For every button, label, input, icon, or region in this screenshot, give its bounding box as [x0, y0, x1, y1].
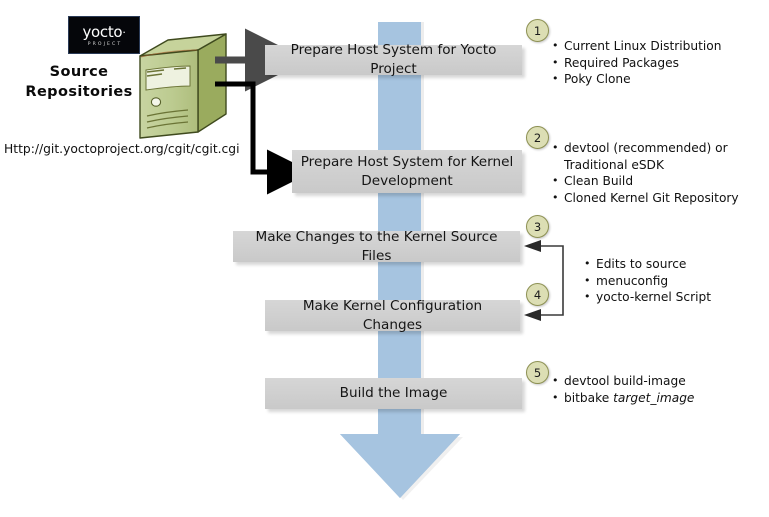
step-badge-3: 3 — [526, 215, 549, 238]
process-box-step4[interactable]: Make Kernel Configuration Changes — [265, 300, 520, 331]
main-flow-arrow-head — [337, 430, 463, 500]
list-item: Current Linux Distribution — [552, 38, 762, 55]
process-box-step3[interactable]: Make Changes to the Kernel Source Files — [233, 231, 520, 262]
list-item: Cloned Kernel Git Repository — [552, 190, 764, 207]
step-badge-3-number: 3 — [534, 220, 541, 234]
process-box-step3-label: Make Changes to the Kernel Source Files — [241, 228, 512, 266]
bullet-list-steps-3-4: Edits to source menuconfig yocto-kernel … — [584, 256, 764, 306]
list-item-continuation: Traditional eSDK — [552, 157, 764, 174]
list-item: Required Packages — [552, 55, 762, 72]
list-item: Poky Clone — [552, 71, 762, 88]
process-box-step2-label: Prepare Host System for Kernel Developme… — [301, 153, 514, 191]
list-item-text: devtool build-image — [564, 374, 686, 388]
list-item-text: bitbake — [564, 391, 613, 405]
bullet-list-step1: Current Linux Distribution Required Pack… — [552, 38, 762, 88]
list-item: devtool build-image — [552, 373, 752, 390]
list-item: Edits to source — [584, 256, 764, 273]
list-item: Clean Build — [552, 173, 764, 190]
bullet-list-step2: devtool (recommended) or Traditional eSD… — [552, 140, 764, 206]
logo-dot: · — [122, 26, 125, 39]
process-box-step1[interactable]: Prepare Host System for Yocto Project — [265, 45, 522, 75]
logo-wordmark: yocto· — [82, 25, 125, 40]
server-icon — [134, 28, 230, 146]
arrowhead-to-step3 — [524, 240, 541, 252]
step-badge-2: 2 — [526, 126, 549, 149]
list-item-emphasis: target_image — [613, 391, 694, 405]
workflow-diagram: yocto· PROJECT Source Repositories Http:… — [0, 0, 769, 517]
list-item: yocto-kernel Script — [584, 289, 764, 306]
process-box-step2[interactable]: Prepare Host System for Kernel Developme… — [292, 150, 522, 193]
arrowhead-to-step4 — [524, 309, 541, 321]
source-repositories-label: Source Repositories — [16, 62, 142, 102]
process-box-step2-line1: Prepare Host System for Kernel — [301, 154, 514, 170]
process-box-step2-line2: Development — [361, 173, 453, 189]
process-box-step5[interactable]: Build the Image — [265, 378, 522, 409]
step-badge-1: 1 — [526, 19, 549, 42]
logo-subtext: PROJECT — [88, 43, 123, 48]
list-item: menuconfig — [584, 273, 764, 290]
step-badge-4: 4 — [526, 283, 549, 306]
bullet-list-step5: devtool build-image bitbake target_image — [552, 373, 752, 406]
step-badge-1-number: 1 — [534, 24, 541, 38]
process-box-step5-label: Build the Image — [340, 384, 448, 403]
process-box-step1-label: Prepare Host System for Yocto Project — [273, 41, 514, 79]
list-item: bitbake target_image — [552, 390, 752, 407]
list-item: devtool (recommended) or — [552, 140, 764, 157]
step-badge-5: 5 — [526, 361, 549, 384]
step-badge-2-number: 2 — [534, 131, 541, 145]
yocto-project-logo: yocto· PROJECT — [68, 16, 140, 54]
process-box-step4-label: Make Kernel Configuration Changes — [273, 297, 512, 335]
logo-word-text: yocto — [82, 23, 122, 41]
step-badge-5-number: 5 — [534, 366, 541, 380]
source-label-line1: Source — [16, 62, 142, 82]
source-label-line2: Repositories — [16, 82, 142, 102]
step-badge-4-number: 4 — [534, 288, 541, 302]
